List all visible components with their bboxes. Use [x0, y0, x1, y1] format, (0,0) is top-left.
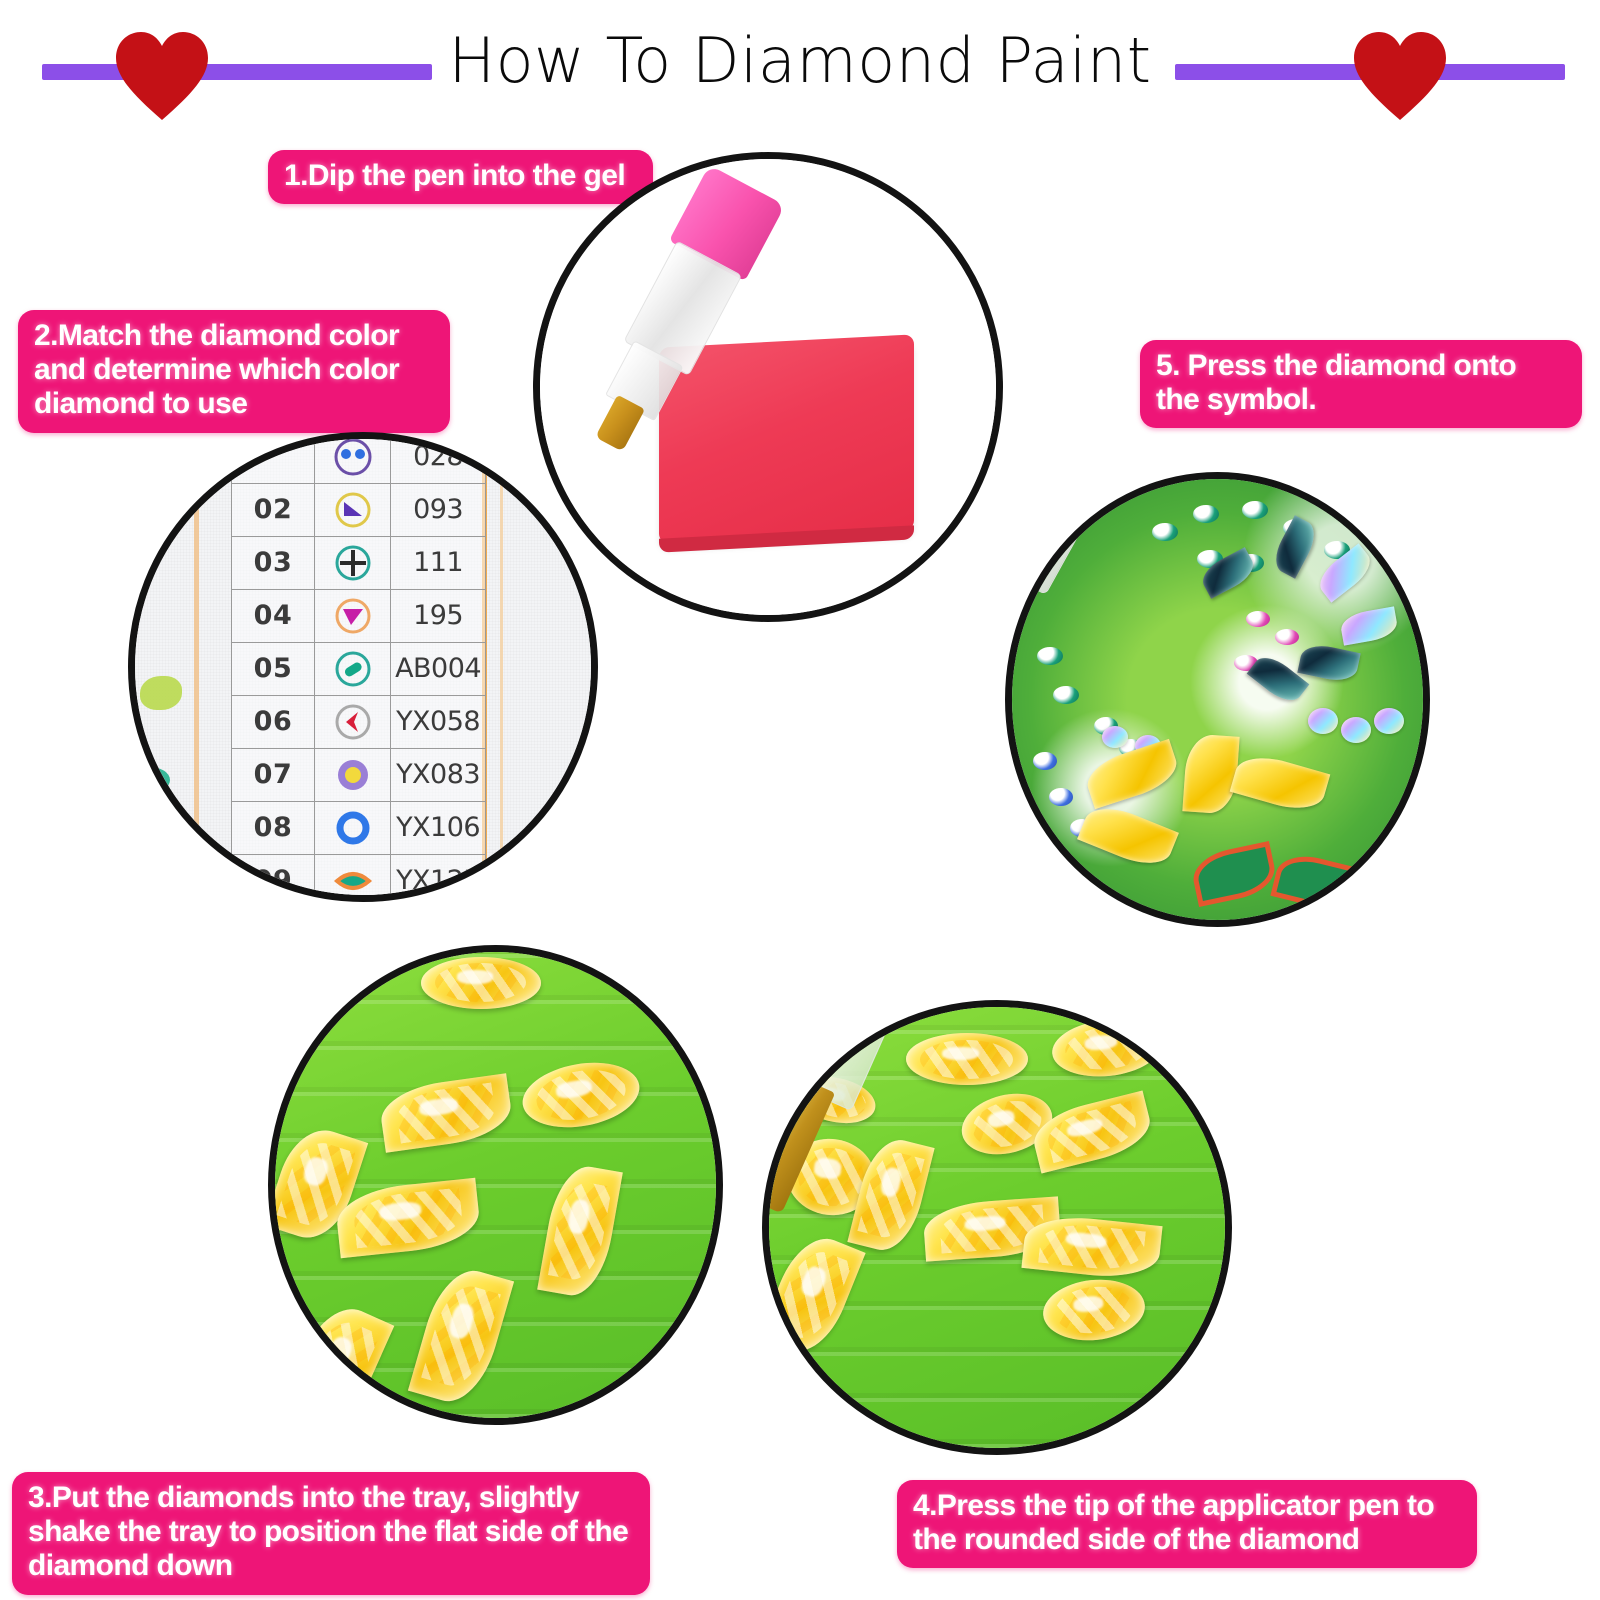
placed-diamond-iris: [1313, 544, 1377, 603]
printed-dot: [1242, 501, 1268, 519]
cell-code: 03: [231, 536, 314, 589]
printed-dot: [1037, 647, 1063, 665]
cell-dmc: YX083: [391, 748, 486, 801]
cell-symbol: [315, 695, 391, 748]
printed-leaf-outline: [1189, 841, 1280, 907]
diamond-in-tray: [280, 1297, 395, 1425]
printed-dot: [1246, 611, 1270, 627]
cell-dmc: YX058: [391, 695, 486, 748]
diamond-in-tray: [906, 1033, 1028, 1085]
cell-dmc: 028: [391, 432, 486, 483]
diamond-in-tray: [1022, 1212, 1163, 1282]
dots-pair-icon: [333, 437, 373, 477]
diamond-tray-photo: [268, 945, 723, 1425]
table-row: 02 093: [231, 483, 485, 536]
cell-dmc: AB004: [391, 642, 486, 695]
cell-symbol: [315, 642, 391, 695]
table-row: 05 AB004: [231, 642, 485, 695]
cell-symbol: [315, 854, 391, 902]
table-row: 08 YX106: [231, 801, 485, 854]
page-title: How To Diamond Paint: [0, 24, 1600, 97]
step-2-label: 2.Match the diamond color and determine …: [18, 310, 450, 433]
cell-symbol: [315, 432, 391, 483]
table-row: 028: [231, 432, 485, 483]
diamond-being-placed: [1182, 733, 1239, 814]
mandala-canvas-photo: [1005, 472, 1430, 927]
cell-code: [231, 432, 314, 483]
step-5-label: 5. Press the diamond onto the symbol.: [1140, 340, 1582, 428]
diamond-in-tray: [377, 1074, 514, 1153]
pen-gem-scene: [769, 1007, 1225, 1448]
printed-leaf-outline: [1270, 849, 1359, 915]
color-chart-table: 028 02 093 03: [231, 432, 486, 902]
placed-diamond-dark: [1268, 515, 1321, 579]
canvas-print-blob-green: [140, 676, 182, 710]
cell-dmc: 195: [391, 589, 486, 642]
placed-diamond-iris: [1339, 607, 1399, 646]
canvas-print-blob-teal: [130, 767, 170, 793]
chart-scene: 028 02 093 03: [135, 439, 591, 895]
cell-symbol: [315, 536, 391, 589]
cell-code: 05: [231, 642, 314, 695]
cell-dmc: YX106: [391, 801, 486, 854]
printed-dot: [1033, 752, 1057, 770]
diamond-in-tray: [408, 1262, 514, 1411]
diamond-in-tray: [538, 1162, 624, 1301]
cell-dmc: 111: [391, 536, 486, 589]
placed-diamond-round: [1308, 708, 1338, 734]
leaf-teal-orange-icon: [333, 861, 373, 901]
diamond-in-tray: [1040, 1275, 1148, 1345]
diamond-in-tray: [1049, 1015, 1164, 1082]
diamond-in-tray: [334, 1178, 482, 1258]
plus-teal-icon: [333, 543, 373, 583]
cell-code: 09: [231, 854, 314, 902]
page-header: How To Diamond Paint: [0, 0, 1600, 140]
placed-diamond-yellow: [1077, 799, 1179, 874]
triangle-purple-icon: [333, 490, 373, 530]
mandala-scene: [1012, 479, 1423, 920]
step-4-label: 4.Press the tip of the applicator pen to…: [897, 1480, 1477, 1568]
ring-blue-icon: [333, 808, 373, 848]
applicator-pen: [1005, 472, 1117, 710]
table-row: 09 YX125: [231, 854, 485, 902]
cell-dmc: YX125: [391, 854, 486, 902]
placed-diamond-yellow: [1081, 739, 1182, 809]
placed-diamond-yellow: [1230, 749, 1331, 817]
cell-code: 07: [231, 748, 314, 801]
printed-dot: [1193, 505, 1219, 523]
table-row: 04 195: [231, 589, 485, 642]
cell-code: 08: [231, 801, 314, 854]
pen-dipping-into-gel-photo: [533, 152, 1003, 622]
table-row: 07 YX083: [231, 748, 485, 801]
pen-tip: [1005, 608, 1006, 686]
cell-symbol: [315, 589, 391, 642]
placed-diamond-round: [1341, 717, 1371, 743]
printed-dot: [1049, 788, 1073, 806]
tray-scene: [275, 952, 716, 1418]
color-chart-photo: 028 02 093 03: [128, 432, 598, 902]
cell-dmc: 093: [391, 483, 486, 536]
cell-symbol: [315, 483, 391, 536]
canvas-edge-right-2: [500, 439, 503, 895]
printed-dot: [1152, 523, 1178, 541]
table-row: 03 111: [231, 536, 485, 589]
cell-code: 06: [231, 695, 314, 748]
printed-dot: [1053, 686, 1079, 704]
cell-symbol: [315, 801, 391, 854]
capsule-teal-icon: [333, 649, 373, 689]
triangle-magenta-icon: [333, 596, 373, 636]
cell-code: 04: [231, 589, 314, 642]
table-row: 06 YX058: [231, 695, 485, 748]
chevron-red-icon: [333, 702, 373, 742]
diamond-in-tray: [1028, 1091, 1156, 1174]
placed-diamond-dark: [1297, 641, 1360, 684]
step-3-label: 3.Put the diamonds into the tray, slight…: [12, 1472, 650, 1595]
diamond-in-tray: [421, 957, 541, 1009]
canvas-edge-left: [194, 439, 199, 895]
printed-dot: [1275, 629, 1299, 645]
diamond-in-tray: [517, 1054, 644, 1136]
diamond-in-tray: [762, 1228, 866, 1363]
pen-touching-diamond-photo: [762, 1000, 1232, 1455]
dot-yellow-ring-purple-icon: [333, 755, 373, 795]
cell-code: 02: [231, 483, 314, 536]
gel-scene: [540, 159, 996, 615]
placed-diamond-round: [1374, 708, 1404, 734]
cell-symbol: [315, 748, 391, 801]
